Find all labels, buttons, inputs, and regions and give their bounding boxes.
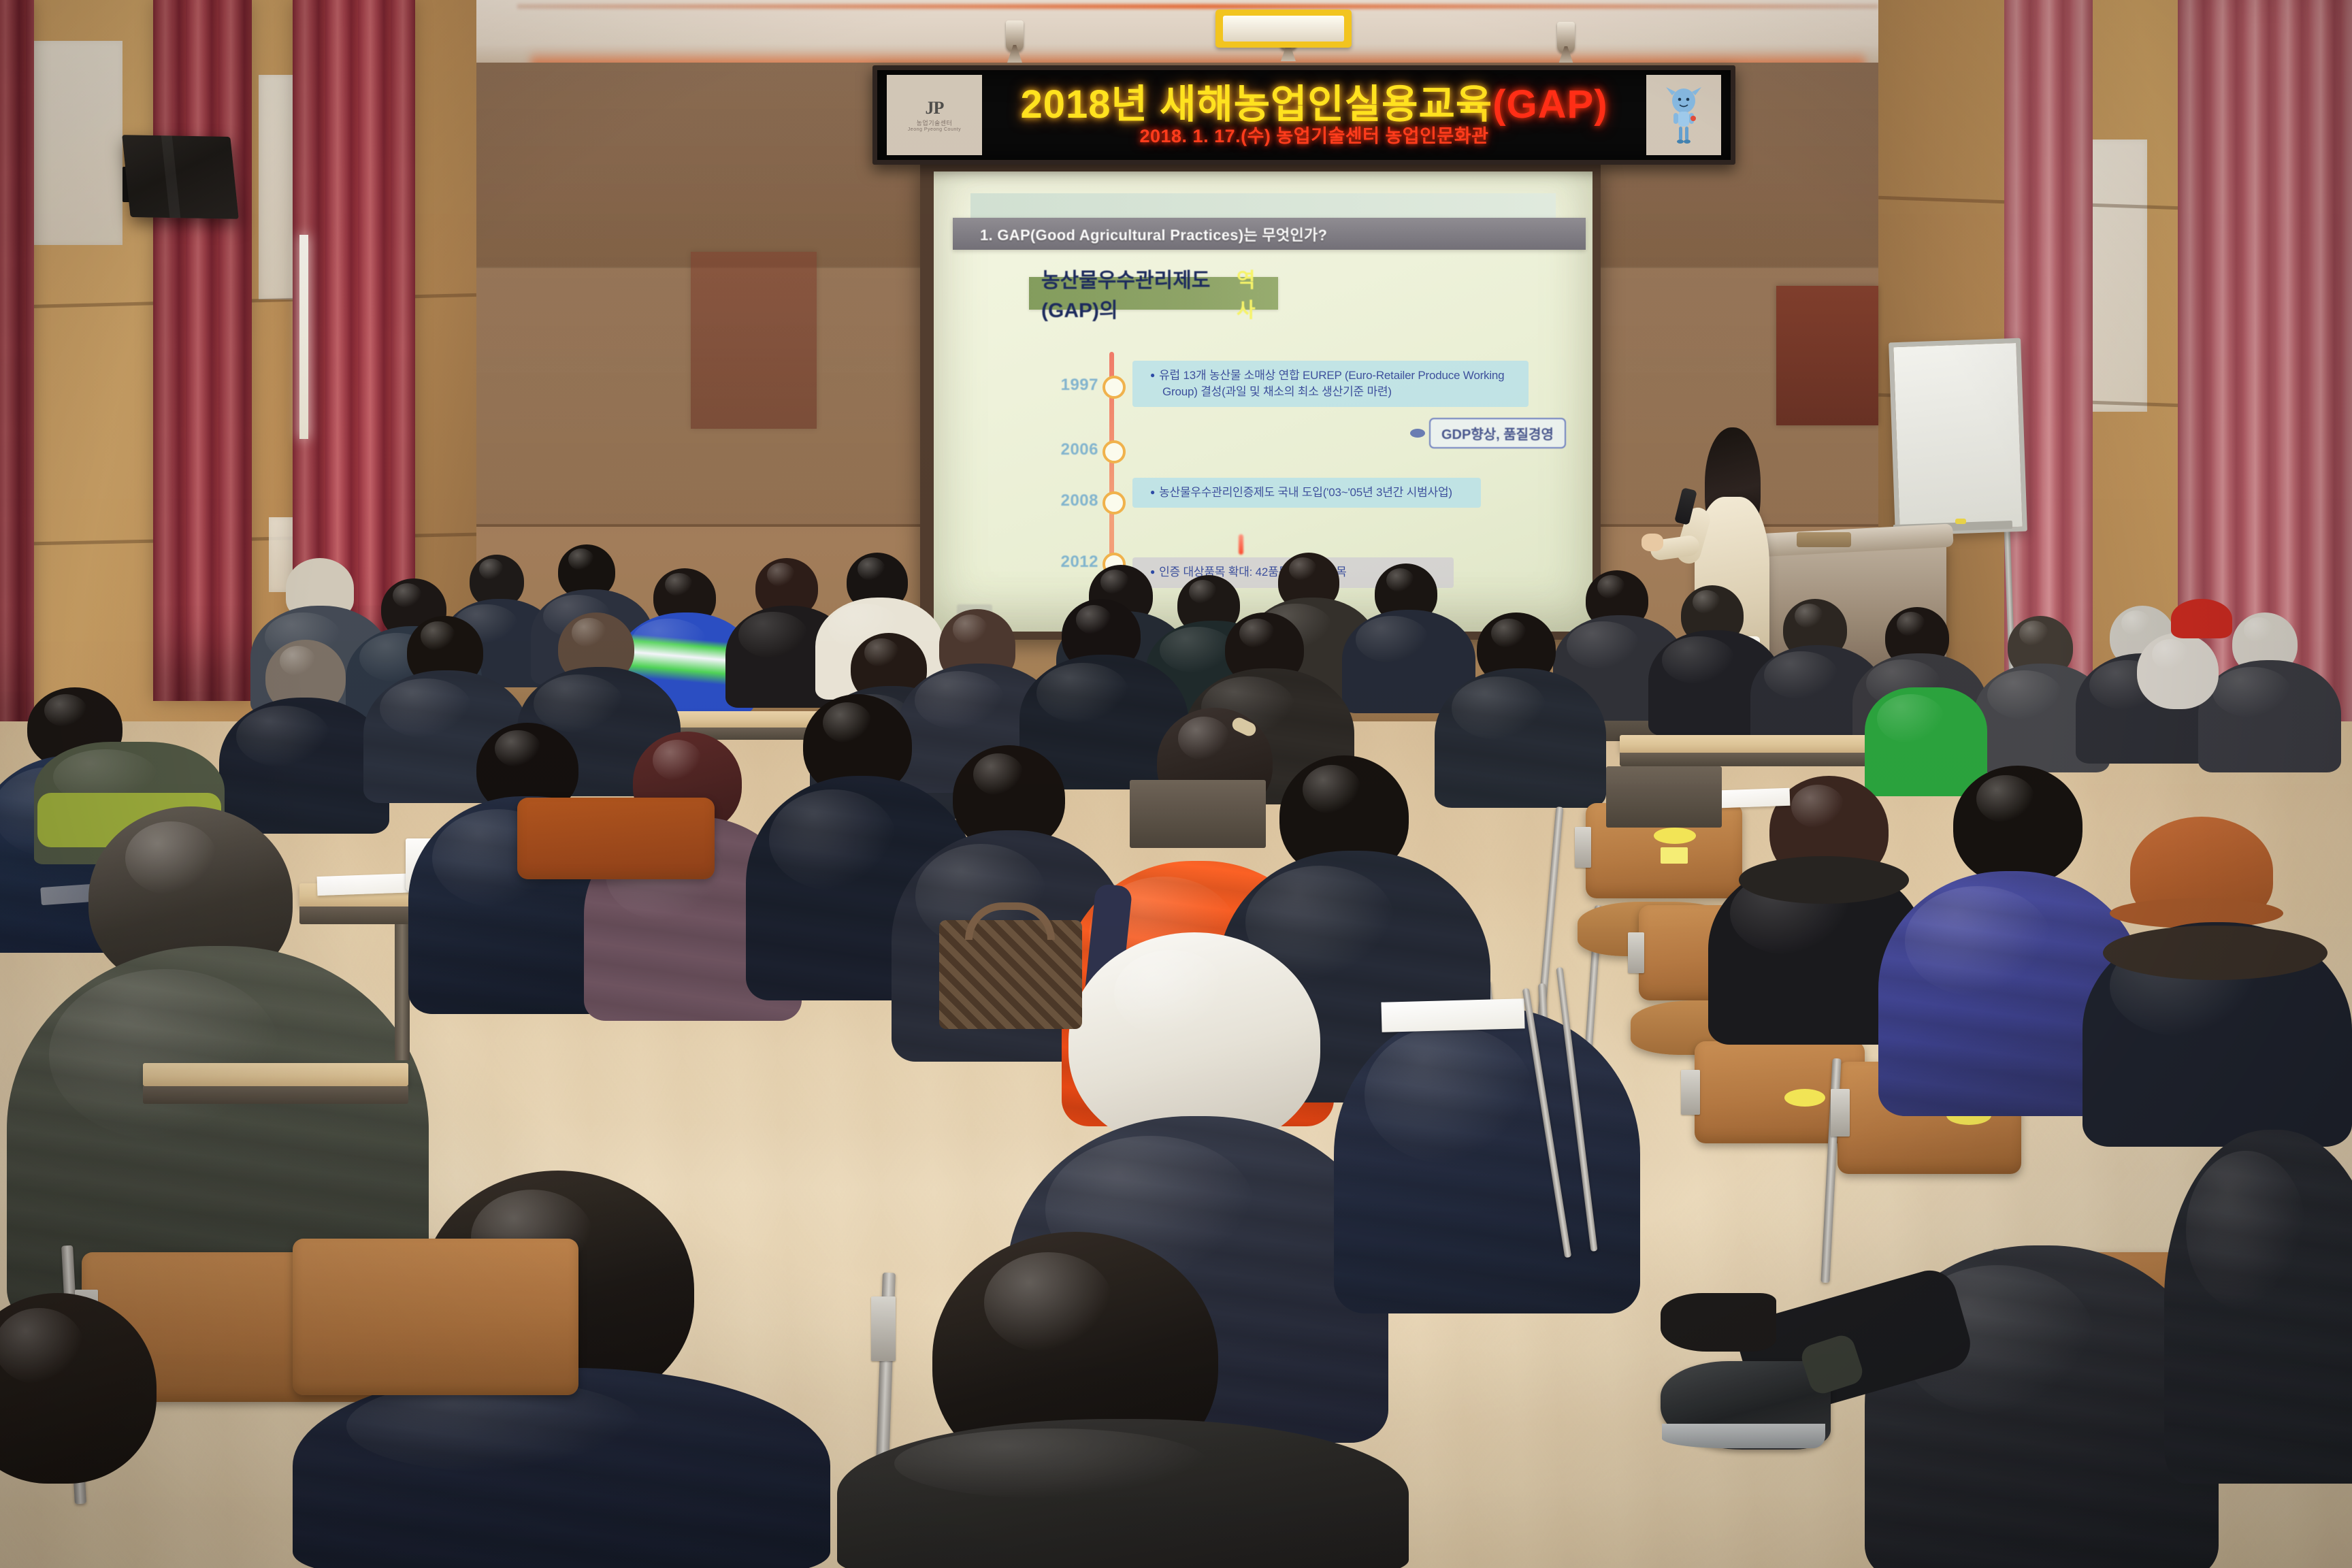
- audience-body-green-vest: [1865, 687, 1987, 796]
- timeline-node-1: [1102, 440, 1126, 463]
- audience-head-right-far-a: [2137, 633, 2219, 709]
- timeline-box-0: ●유럽 13개 농산물 소매상 연합 EUREP (Euro-Retailer …: [1132, 361, 1529, 407]
- seminar-photo-scene: 1. GAP(Good Agricultural Practices)는 무엇인…: [0, 0, 2352, 1568]
- audience-body-mid-8: [1435, 668, 1606, 808]
- audience-head-blue-vest-man: [1953, 766, 2082, 885]
- timeline-year-2: 2008: [1036, 491, 1098, 510]
- chair-asset-tag-1: [1654, 828, 1696, 844]
- laser-pointer-dot: [1239, 534, 1243, 555]
- slide-header-bar: 1. GAP(Good Agricultural Practices)는 무엇인…: [953, 218, 1586, 250]
- chair-bracket-4: [1831, 1089, 1850, 1137]
- slide-header-text: 1. GAP(Good Agricultural Practices)는 무엇인…: [980, 223, 1327, 245]
- logo-roman: Jeong Pyeong County: [908, 127, 961, 132]
- slide-callout-box: GDP향상, 품질경영: [1429, 418, 1566, 448]
- led-banner: JP 농업기술센터 Jeong Pyeong County 2018년 새해농업…: [872, 65, 1735, 165]
- logo-korean: 농업기술센터: [917, 118, 953, 127]
- podium-name-plate: [1797, 532, 1851, 547]
- presenter-hand: [1641, 534, 1663, 551]
- desk-mid-right: [1620, 735, 1906, 753]
- track-light-left: [1006, 20, 1024, 52]
- chair-asset-tag-3: [1784, 1089, 1825, 1107]
- whiteboard-marker[interactable]: [1955, 519, 1966, 524]
- curtain-left-a: [153, 0, 252, 701]
- desk-mid-right-edge: [1620, 753, 1906, 766]
- chair-bracket-2: [1628, 932, 1644, 973]
- right-wall-artwork-panel: [1776, 286, 1878, 425]
- fur-collar-right: [1739, 856, 1909, 904]
- timeline-node-0: [1102, 376, 1126, 399]
- yellow-panel-light: [1215, 10, 1352, 48]
- banner-line-1: 2018년 새해농업인실용교육(GAP): [982, 84, 1646, 125]
- banner-left-logo: JP 농업기술센터 Jeong Pyeong County: [887, 75, 982, 155]
- banner-gap-tag: (GAP): [1492, 82, 1607, 127]
- desk-module-right: [1606, 766, 1722, 828]
- chair-foreground-center[interactable]: [293, 1239, 578, 1395]
- logo-mark: JP: [926, 98, 944, 118]
- ceiling-red-accent-line: [517, 4, 1878, 9]
- audience-body-foreground-right: [837, 1419, 1409, 1568]
- callout-marker: [1410, 429, 1425, 438]
- projection-screen: 1. GAP(Good Agricultural Practices)는 무엇인…: [934, 171, 1592, 632]
- desk-foreground-left-2-edge: [143, 1086, 408, 1104]
- whiteboard[interactable]: [1889, 338, 2027, 536]
- chair-bracket-1: [1575, 827, 1591, 868]
- banner-text-block: 2018년 새해농업인실용교육(GAP) 2018. 1. 17.(수) 농업기…: [982, 84, 1646, 146]
- dark-shoe-background: [1661, 1293, 1776, 1352]
- fur-collar-rust-hat: [2103, 926, 2327, 980]
- banner-main-title: 새해농업인실용교육: [1160, 82, 1492, 127]
- audience-body-bottom-rightmost: [2164, 1130, 2352, 1484]
- slide-subtitle-chip: 농산물우수관리제도(GAP)의 역사: [1029, 277, 1278, 310]
- slide-top-band: [970, 193, 1556, 218]
- audience-head-right-red-cap: [2171, 599, 2232, 638]
- timeline-box-1: ●농산물우수관리인증제도 국내 도입('03~'05년 3년간 시범사업): [1132, 478, 1481, 508]
- left-wall-dark-panel: [691, 252, 817, 429]
- wall-speaker: [122, 135, 239, 219]
- chair-bracket-fg-center: [871, 1296, 896, 1361]
- audience-body-navy-right-fg: [1334, 1007, 1640, 1313]
- audience-body-foreground-center: [293, 1368, 830, 1568]
- timeline-line-0-1: Group) 결성(과일 및 채소의 최소 생산기준 마련): [1150, 384, 1518, 400]
- slide-subtitle-accent: 역사: [1237, 263, 1266, 323]
- track-light-right: [1557, 22, 1575, 53]
- banner-year: 2018년: [1020, 82, 1147, 127]
- curtain-left-outer: [0, 0, 34, 721]
- timeline-year-1: 2006: [1036, 440, 1098, 459]
- window-light-gap: [299, 235, 308, 439]
- desk-foreground-left-2: [143, 1063, 408, 1086]
- timeline-year-0: 1997: [1036, 376, 1098, 395]
- audience-body-far-16: [2198, 660, 2341, 772]
- chair-bracket-3: [1681, 1070, 1700, 1115]
- desk-leg-foreground-left: [395, 924, 410, 1060]
- timeline-year-3: 2012: [1036, 553, 1098, 572]
- banner-right-mascot: [1646, 75, 1721, 155]
- mascot-icon: [1665, 86, 1703, 144]
- timeline-line-0-0: ●유럽 13개 농산물 소매상 연합 EUREP (Euro-Retailer …: [1150, 367, 1518, 384]
- sneaker-sole: [1662, 1424, 1825, 1448]
- timeline-node-2: [1102, 491, 1126, 514]
- chair-left-mid[interactable]: [517, 798, 715, 879]
- timeline-line-1-0: ●농산물우수관리인증제도 국내 도입('03~'05년 3년간 시범사업): [1150, 485, 1470, 501]
- handout-mid-right: [1381, 998, 1524, 1032]
- desk-module-center: [1130, 780, 1266, 848]
- banner-line-2: 2018. 1. 17.(수) 농업기술센터 농업인문화관: [982, 127, 1646, 146]
- slide-subtitle-main: 농산물우수관리제도(GAP)의: [1041, 263, 1232, 323]
- chair-asset-tag-1b: [1661, 847, 1688, 864]
